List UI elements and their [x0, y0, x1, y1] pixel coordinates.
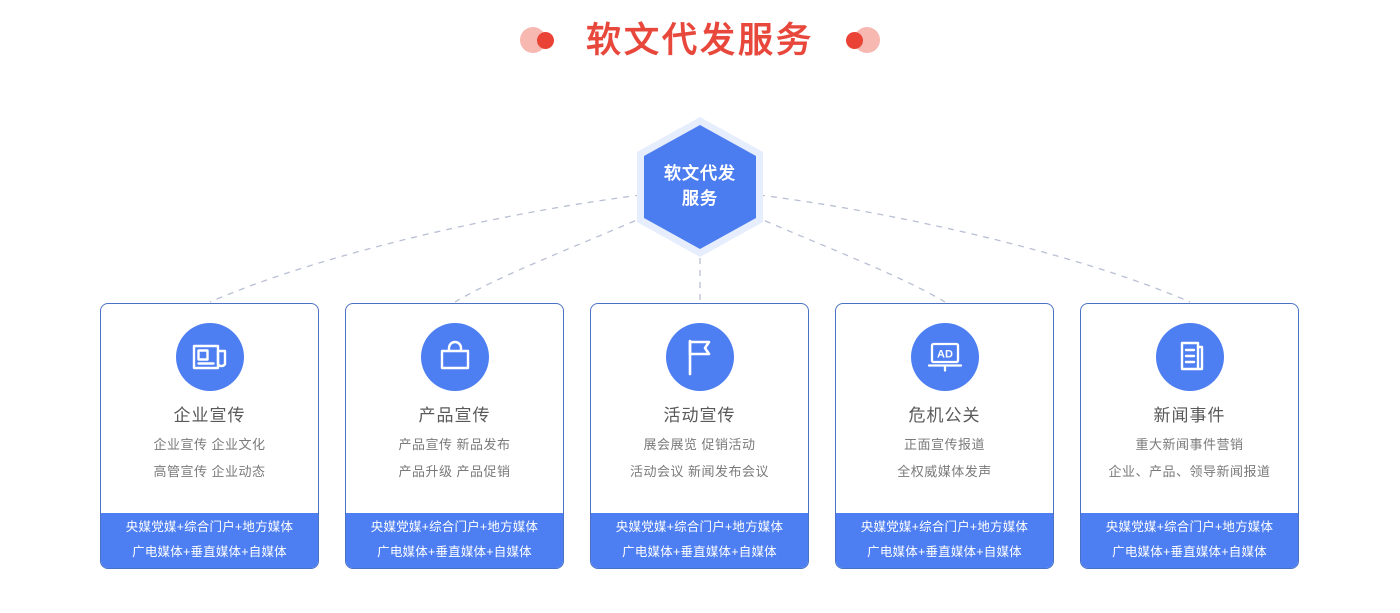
card-footer: 央媒党媒+综合门户+地方媒体 广电媒体+垂直媒体+自媒体 [836, 513, 1053, 568]
card-body: 新闻事件 重大新闻事件营销 企业、产品、领导新闻报道 [1081, 304, 1298, 513]
card-title: 企业宣传 [174, 407, 246, 424]
decorative-dots-right [836, 27, 880, 53]
service-card-product[interactable]: 产品宣传 产品宣传 新品发布 产品升级 产品促销 央媒党媒+综合门户+地方媒体 … [345, 303, 564, 569]
decorative-dots-left [520, 27, 564, 53]
card-footer-line-1: 央媒党媒+综合门户+地方媒体 [836, 521, 1053, 534]
connector-to-card-2 [455, 216, 646, 302]
shopping-bag-icon [421, 323, 489, 391]
card-footer: 央媒党媒+综合门户+地方媒体 广电媒体+垂直媒体+自媒体 [591, 513, 808, 568]
card-line-1: 正面宣传报道 [904, 438, 985, 451]
card-line-1: 重大新闻事件营销 [1135, 438, 1243, 451]
card-title: 危机公关 [909, 407, 981, 424]
svg-text:AD: AD [937, 349, 953, 361]
dot-small-icon [846, 32, 863, 49]
card-body: 活动宣传 展会展览 促销活动 活动会议 新闻发布会议 [591, 304, 808, 513]
card-line-2: 活动会议 新闻发布会议 [630, 465, 769, 478]
card-footer-line-1: 央媒党媒+综合门户+地方媒体 [346, 521, 563, 534]
card-line-2: 企业、产品、领导新闻报道 [1108, 465, 1270, 478]
card-line-1: 展会展览 促销活动 [643, 438, 755, 451]
page-header: 软文代发服务 [0, 14, 1400, 66]
card-footer: 央媒党媒+综合门户+地方媒体 广电媒体+垂直媒体+自媒体 [346, 513, 563, 568]
dot-small-icon [537, 32, 554, 49]
card-footer-line-2: 广电媒体+垂直媒体+自媒体 [101, 546, 318, 559]
card-line-1: 产品宣传 新品发布 [398, 438, 510, 451]
flag-icon [666, 323, 734, 391]
card-footer-line-2: 广电媒体+垂直媒体+自媒体 [836, 546, 1053, 559]
hub-label-line-2: 服务 [682, 187, 718, 212]
card-line-2: 高管宣传 企业动态 [153, 465, 265, 478]
card-line-1: 企业宣传 企业文化 [153, 438, 265, 451]
card-line-2: 全权威媒体发声 [897, 465, 992, 478]
card-title: 活动宣传 [664, 407, 736, 424]
connector-to-card-5 [759, 195, 1190, 302]
card-body: AD 危机公关 正面宣传报道 全权威媒体发声 [836, 304, 1053, 513]
newspaper-icon [176, 323, 244, 391]
card-body: 产品宣传 产品宣传 新品发布 产品升级 产品促销 [346, 304, 563, 513]
card-footer-line-1: 央媒党媒+综合门户+地方媒体 [591, 521, 808, 534]
ad-billboard-icon: AD [911, 323, 979, 391]
card-footer-line-2: 广电媒体+垂直媒体+自媒体 [591, 546, 808, 559]
news-document-icon [1156, 323, 1224, 391]
card-title: 产品宣传 [419, 407, 491, 424]
card-line-2: 产品升级 产品促销 [398, 465, 510, 478]
card-footer: 央媒党媒+综合门户+地方媒体 广电媒体+垂直媒体+自媒体 [1081, 513, 1298, 568]
service-card-news[interactable]: 新闻事件 重大新闻事件营销 企业、产品、领导新闻报道 央媒党媒+综合门户+地方媒… [1080, 303, 1299, 569]
service-card-event[interactable]: 活动宣传 展会展览 促销活动 活动会议 新闻发布会议 央媒党媒+综合门户+地方媒… [590, 303, 809, 569]
page-title: 软文代发服务 [586, 23, 814, 58]
card-footer-line-2: 广电媒体+垂直媒体+自媒体 [346, 546, 563, 559]
center-hub: 软文代发 服务 [637, 117, 763, 257]
card-footer-line-2: 广电媒体+垂直媒体+自媒体 [1081, 546, 1298, 559]
card-footer: 央媒党媒+综合门户+地方媒体 广电媒体+垂直媒体+自媒体 [101, 513, 318, 568]
card-footer-line-1: 央媒党媒+综合门户+地方媒体 [1081, 521, 1298, 534]
service-card-enterprise[interactable]: 企业宣传 企业宣传 企业文化 高管宣传 企业动态 央媒党媒+综合门户+地方媒体 … [100, 303, 319, 569]
hub-label-line-1: 软文代发 [664, 162, 736, 187]
connector-to-card-1 [210, 195, 641, 302]
connector-to-card-4 [754, 216, 945, 302]
card-body: 企业宣传 企业宣传 企业文化 高管宣传 企业动态 [101, 304, 318, 513]
service-card-pr[interactable]: AD 危机公关 正面宣传报道 全权威媒体发声 央媒党媒+综合门户+地方媒体 广电… [835, 303, 1054, 569]
card-title: 新闻事件 [1154, 407, 1226, 424]
card-footer-line-1: 央媒党媒+综合门户+地方媒体 [101, 521, 318, 534]
